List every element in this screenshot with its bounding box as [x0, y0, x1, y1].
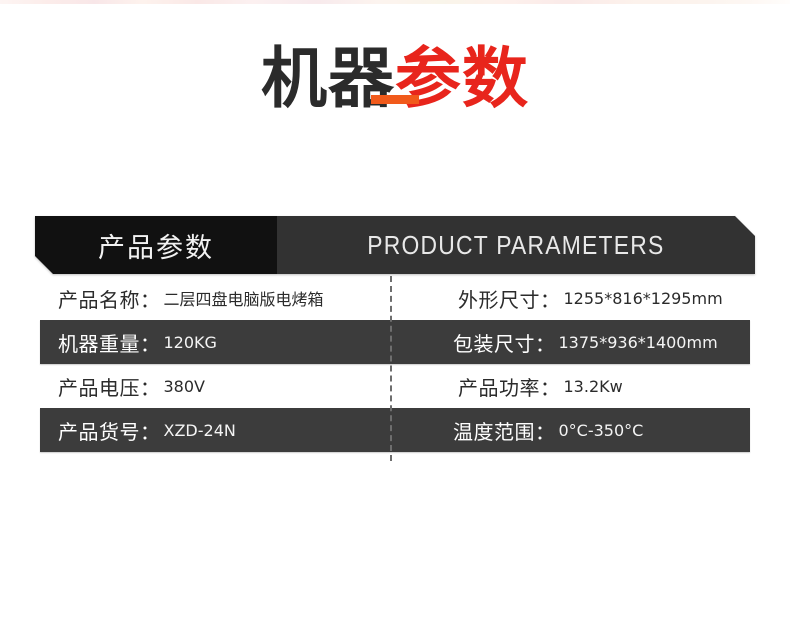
- section-header-right: PRODUCT PARAMETERS: [277, 216, 755, 274]
- spec-value: 1255*816*1295mm: [564, 289, 723, 308]
- title-underline-bar: [371, 95, 419, 104]
- spec-label: 产品名称：: [58, 284, 161, 313]
- table-row: 产品电压： 380V 产品功率： 13.2Kw: [35, 364, 755, 408]
- page-title-primary: 机器: [261, 40, 395, 117]
- page-title-accent: 参数: [395, 40, 529, 117]
- spec-cell-left: 产品电压： 380V: [35, 364, 395, 408]
- spec-value: 13.2Kw: [564, 377, 623, 396]
- spec-cell-left: 产品货号： XZD-24N: [40, 408, 395, 452]
- spec-label: 产品电压：: [58, 372, 161, 401]
- spec-cell-right: 外形尺寸： 1255*816*1295mm: [395, 276, 755, 320]
- section-header-bar: 产品参数 PRODUCT PARAMETERS: [35, 216, 755, 274]
- spec-value: 1375*936*1400mm: [559, 333, 718, 352]
- section-header-left-label: 产品参数: [98, 226, 214, 265]
- spec-cell-left: 机器重量： 120KG: [40, 320, 395, 364]
- spec-label: 包装尺寸：: [453, 328, 556, 357]
- spec-table: 产品名称： 二层四盘电脑版电烤箱 外形尺寸： 1255*816*1295mm 机…: [35, 276, 755, 452]
- spec-label: 机器重量：: [58, 328, 161, 357]
- spec-value: 380V: [164, 377, 205, 396]
- spec-value: 二层四盘电脑版电烤箱: [164, 286, 324, 310]
- spec-value: 120KG: [164, 333, 217, 352]
- spec-label: 产品货号：: [58, 416, 161, 445]
- spec-cell-right: 包装尺寸： 1375*936*1400mm: [395, 320, 750, 364]
- spec-label: 温度范围：: [453, 416, 556, 445]
- spec-label: 外形尺寸：: [458, 284, 561, 313]
- spec-value: 0°C-350°C: [559, 421, 644, 440]
- top-gradient-strip: [0, 0, 790, 4]
- spec-value: XZD-24N: [164, 421, 236, 440]
- spec-cell-left: 产品名称： 二层四盘电脑版电烤箱: [35, 276, 395, 320]
- section-header-left: 产品参数: [35, 216, 277, 274]
- spec-cell-right: 温度范围： 0°C-350°C: [395, 408, 750, 452]
- table-row: 产品货号： XZD-24N 温度范围： 0°C-350°C: [40, 408, 750, 452]
- table-row: 产品名称： 二层四盘电脑版电烤箱 外形尺寸： 1255*816*1295mm: [35, 276, 755, 320]
- spec-cell-right: 产品功率： 13.2Kw: [395, 364, 755, 408]
- spec-label: 产品功率：: [458, 372, 561, 401]
- table-row: 机器重量： 120KG 包装尺寸： 1375*936*1400mm: [40, 320, 750, 364]
- section-header-right-label: PRODUCT PARAMETERS: [367, 230, 664, 261]
